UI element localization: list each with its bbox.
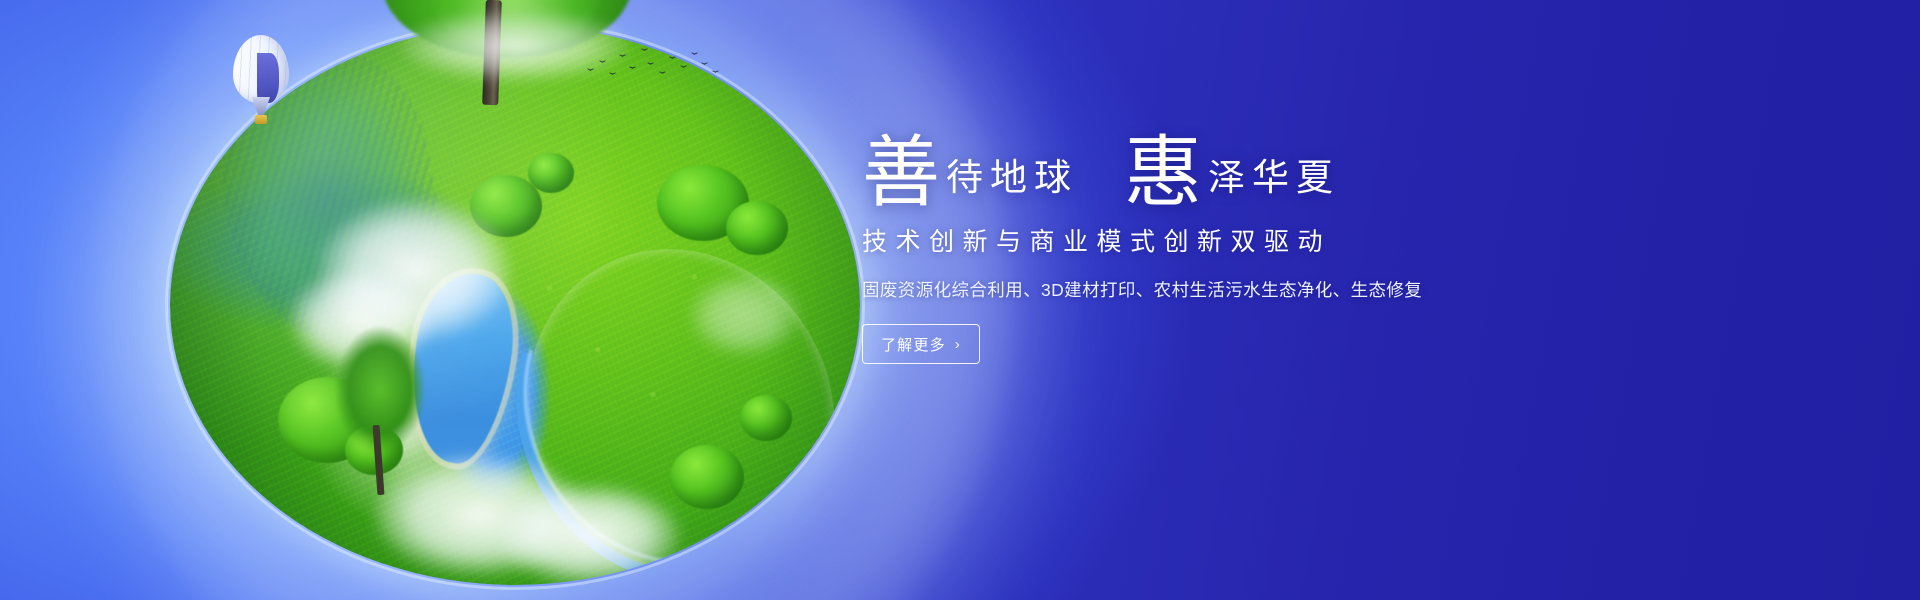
hero-subtitle-secondary: 固废资源化综合利用、3D建材打印、农村生活污水生态净化、生态修复	[862, 277, 1562, 302]
hero-headline: 善 待地球 惠 泽华夏	[862, 128, 1562, 206]
flying-birds-flock	[585, 45, 725, 90]
headline-second-rest: 泽华夏	[1202, 159, 1342, 206]
hero-content: 善 待地球 惠 泽华夏 技术创新与商业模式创新双驱动 固废资源化综合利用、3D建…	[862, 128, 1562, 364]
learn-more-label: 了解更多	[881, 334, 946, 355]
balloon-color-band	[257, 53, 279, 103]
hero-subtitle-primary: 技术创新与商业模式创新双驱动	[862, 222, 1562, 258]
balloon-skirt	[252, 97, 270, 115]
chevron-right-icon: ›	[955, 337, 961, 352]
hero-banner: 善 待地球 惠 泽华夏 技术创新与商业模式创新双驱动 固废资源化综合利用、3D建…	[0, 0, 1920, 600]
headline-second-char: 惠	[1124, 134, 1202, 212]
learn-more-button[interactable]: 了解更多 ›	[862, 324, 980, 364]
balloon-basket	[255, 115, 267, 124]
hot-air-balloon	[233, 35, 289, 127]
headline-lead-char: 善	[862, 134, 940, 212]
headline-lead-rest: 待地球	[940, 159, 1080, 206]
